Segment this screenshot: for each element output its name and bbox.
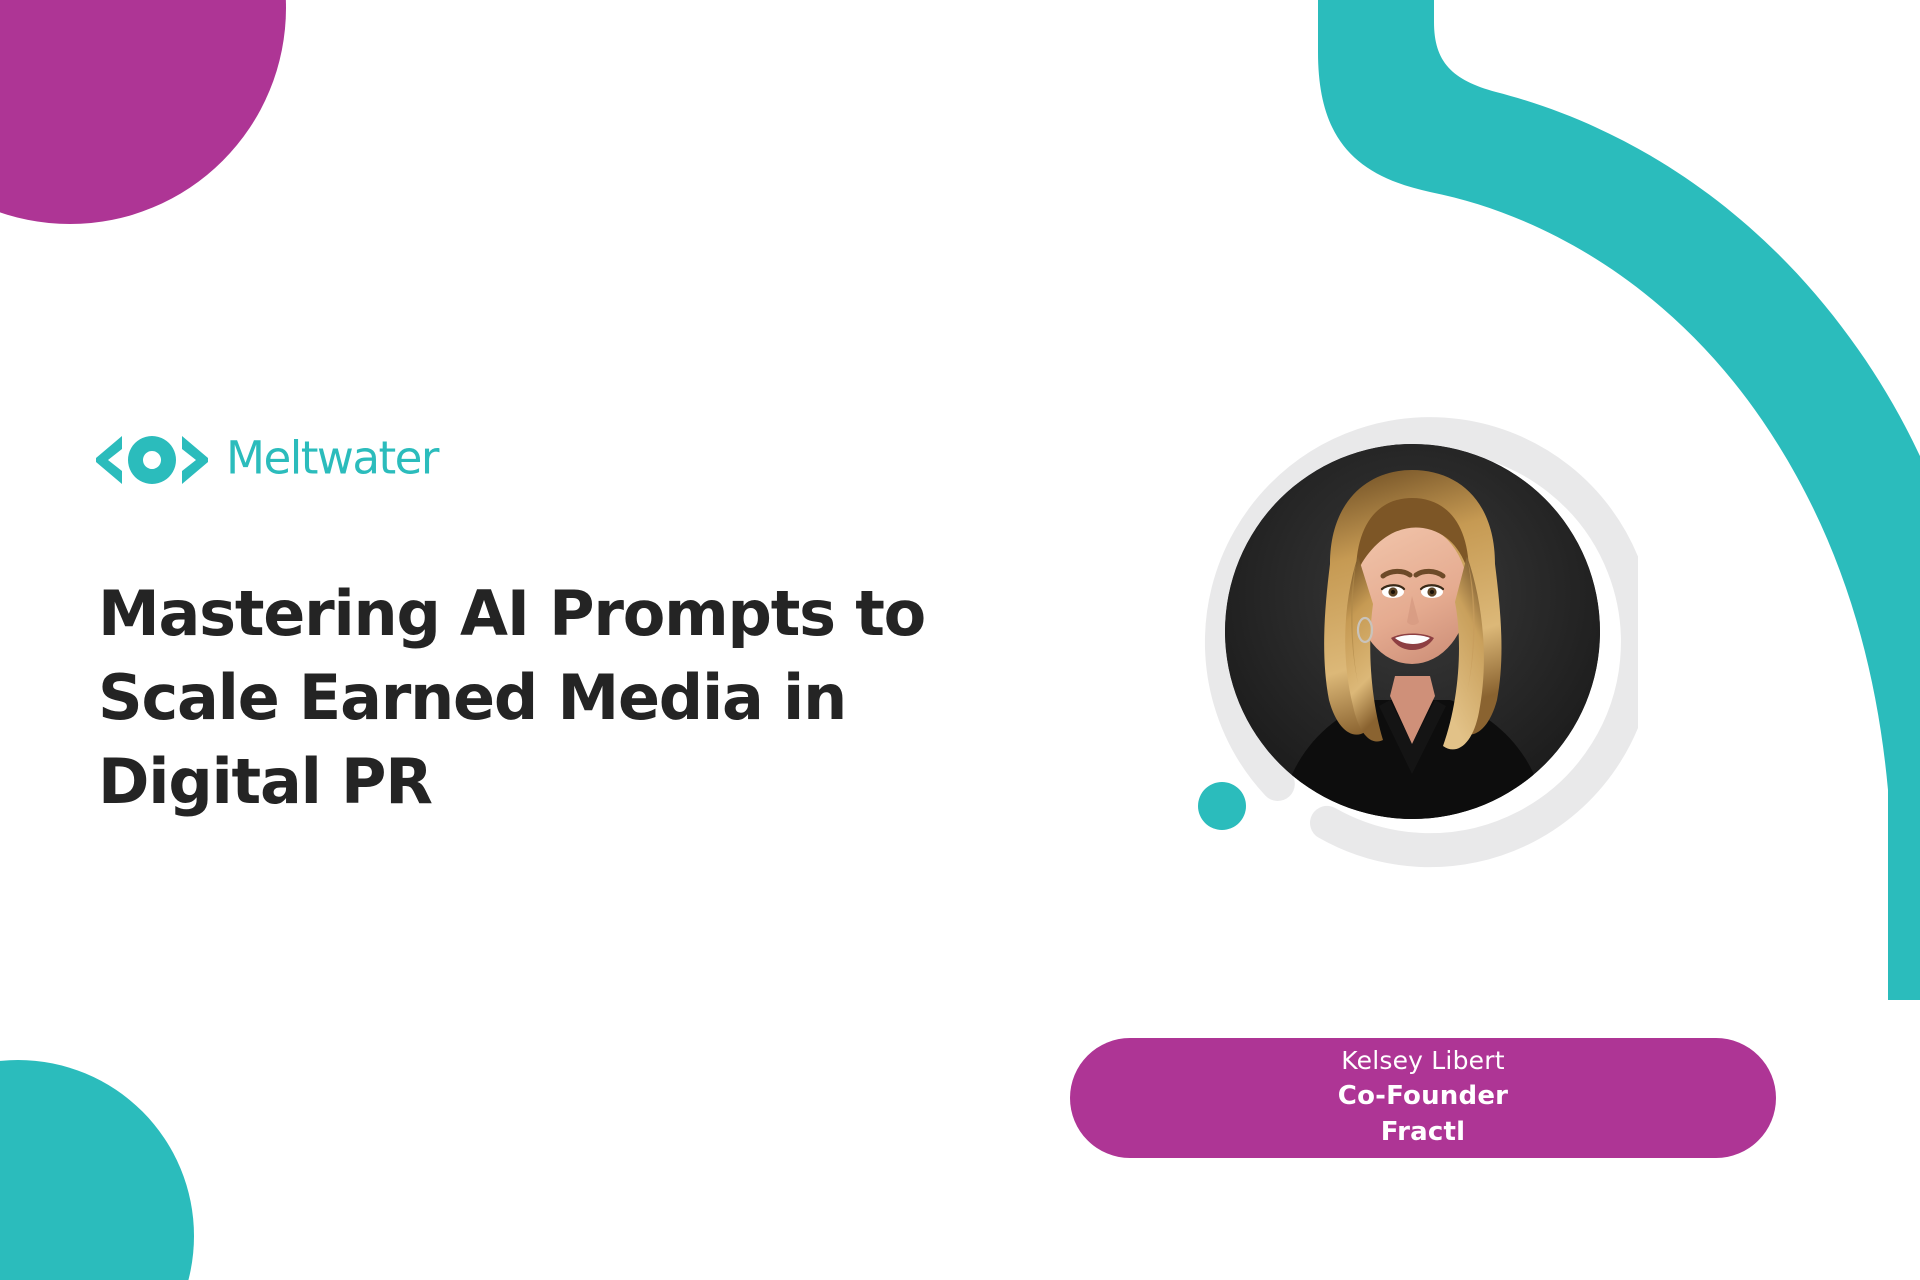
- speaker-company: Fractl: [1381, 1114, 1465, 1150]
- presentation-slide: Meltwater Mastering AI Prompts to Scale …: [0, 0, 1920, 1280]
- meltwater-eye-icon: [96, 432, 208, 488]
- speaker-photo: [1225, 444, 1600, 819]
- speaker-portrait: [1168, 408, 1638, 878]
- meltwater-logo: Meltwater: [96, 432, 478, 488]
- page-title: Mastering AI Prompts to Scale Earned Med…: [98, 572, 998, 824]
- speaker-photo-image: [1225, 444, 1600, 819]
- top-left-magenta-blob: [0, 0, 286, 224]
- speaker-name: Kelsey Libert: [1341, 1044, 1504, 1078]
- speaker-role: Co-Founder: [1338, 1078, 1508, 1114]
- title-line-1: Mastering AI Prompts to: [98, 572, 998, 656]
- title-line-3: Digital PR: [98, 740, 998, 824]
- meltwater-wordmark: Meltwater: [226, 435, 478, 485]
- meltwater-wordmark-text: Meltwater: [226, 435, 440, 484]
- bottom-left-teal-blob: [0, 1060, 194, 1280]
- title-line-2: Scale Earned Media in: [98, 656, 998, 740]
- speaker-badge: Kelsey Libert Co-Founder Fractl: [1070, 1038, 1776, 1158]
- teal-accent-dot: [1198, 782, 1246, 830]
